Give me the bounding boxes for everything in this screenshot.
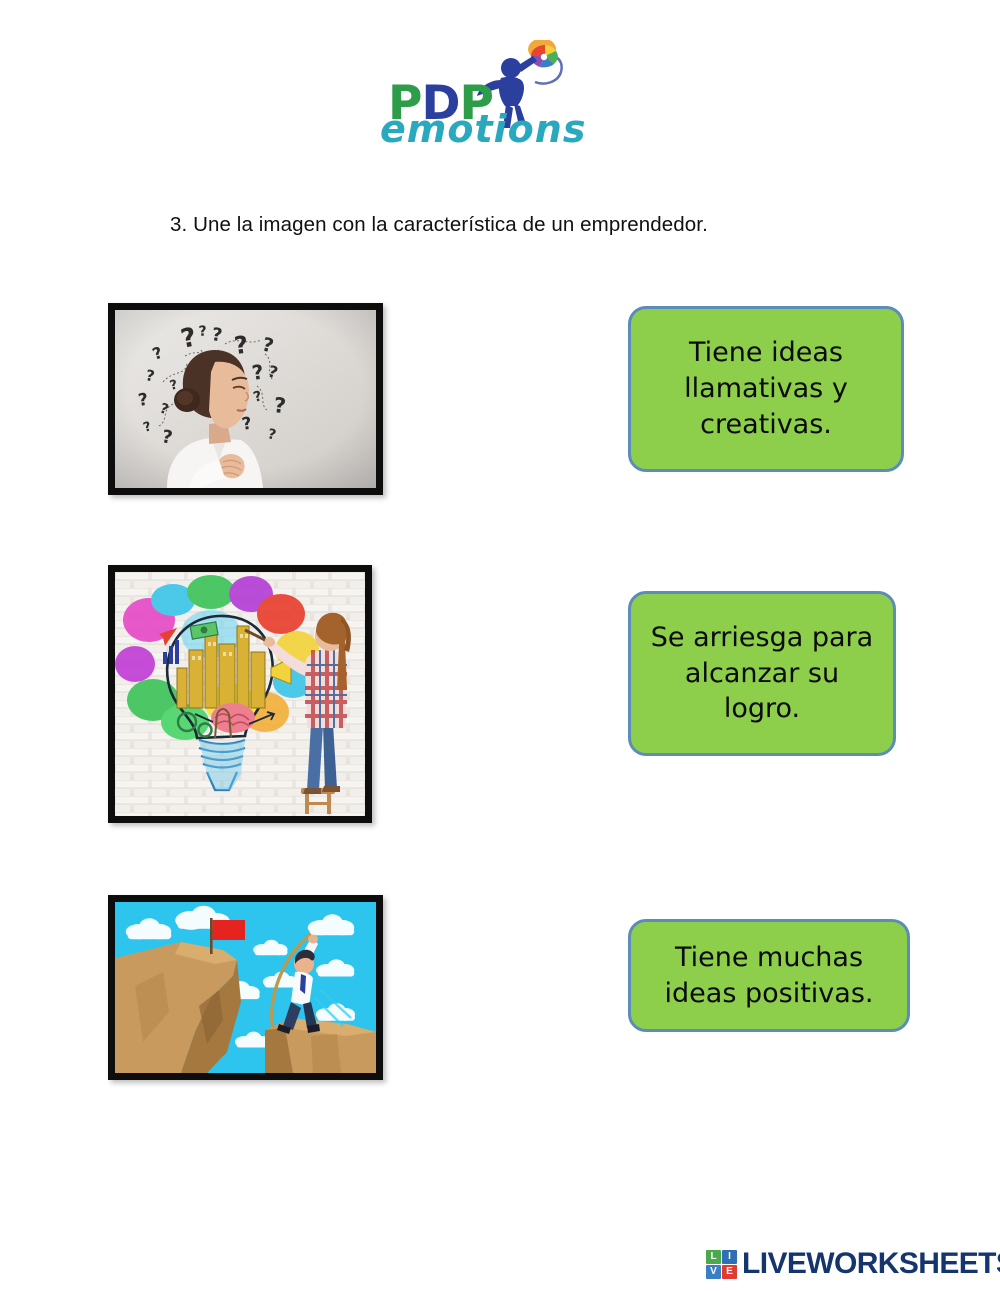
header-logo-area: PDP emotions	[0, 38, 1000, 153]
pole-vault-illustration	[115, 902, 376, 1073]
answer-3-text: Tiene muchas ideas positivas.	[645, 940, 893, 1012]
lw-block-v: V	[706, 1265, 721, 1279]
answer-2-text: Se arriesga para alcanzar su logro.	[645, 620, 879, 728]
svg-text:?: ?	[233, 331, 250, 360]
liveworksheets-blocks-icon: L I V E	[706, 1250, 737, 1279]
thinking-woman-illustration: ? ? ? ? ? ? ? ? ? ? ? ? ? ? ? ? ? ?	[115, 310, 376, 488]
lw-block-l: L	[706, 1250, 721, 1264]
svg-text:?: ?	[198, 323, 207, 340]
liveworksheets-logo[interactable]: L I V E LIVEWORKSHEETS	[706, 1247, 1000, 1281]
answer-positive-ideas[interactable]: Tiene muchas ideas positivas.	[628, 919, 910, 1032]
businessman-pole-vault-cliff-photo	[108, 895, 383, 1080]
answer-creative-ideas[interactable]: Tiene ideas llamativas y creativas.	[628, 306, 904, 472]
girl-painting-lightbulb-mural-photo	[108, 565, 372, 823]
logo-wordmark-emotions: emotions	[380, 110, 586, 148]
answer-1-text: Tiene ideas llamativas y creativas.	[645, 335, 887, 443]
liveworksheets-wordmark: LIVEWORKSHEETS	[742, 1247, 1000, 1281]
photo-3-content	[115, 902, 376, 1073]
photo-1-content: ? ? ? ? ? ? ? ? ? ? ? ? ? ? ? ? ? ?	[115, 310, 376, 488]
answer-takes-risks[interactable]: Se arriesga para alcanzar su logro.	[628, 591, 896, 756]
photo-2-content	[115, 572, 365, 816]
lightbulb-mural-illustration	[115, 572, 365, 816]
lw-block-i: I	[722, 1250, 737, 1264]
lw-block-e: E	[722, 1265, 737, 1279]
exercise-instruction: 3. Une la imagen con la característica d…	[170, 213, 870, 237]
svg-text:?: ?	[272, 393, 287, 418]
pdp-emotions-logo: PDP emotions	[378, 38, 578, 148]
thinking-woman-question-marks-photo: ? ? ? ? ? ? ? ? ? ? ? ? ? ? ? ? ? ?	[108, 303, 383, 495]
